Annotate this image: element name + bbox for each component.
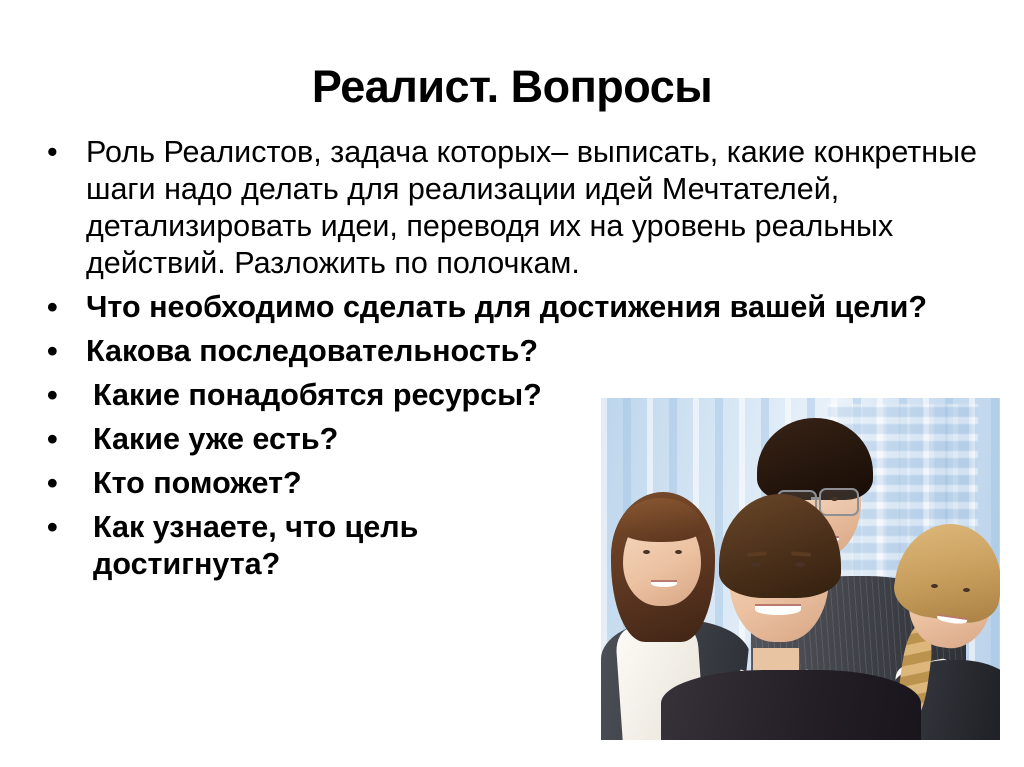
eyeglasses-lens-right — [819, 488, 859, 516]
bullet-marker-icon: • — [47, 134, 58, 171]
eye — [751, 562, 761, 567]
eye — [643, 550, 650, 554]
list-item-text: Как узнаете, что цель достигнута? — [86, 509, 566, 583]
suit-jacket — [661, 670, 921, 740]
list-item-text: Что необходимо сделать для достижения ва… — [86, 290, 927, 324]
list-item: • Какова последовательность? — [34, 333, 959, 370]
page-title: Реалист. Вопросы — [0, 62, 1024, 112]
bullet-marker-icon: • — [47, 509, 58, 546]
bullet-marker-icon: • — [47, 421, 58, 458]
photo-background — [601, 398, 1000, 740]
list-item-text: Какова последовательность? — [86, 334, 538, 368]
eye — [963, 588, 970, 592]
eye — [795, 562, 805, 567]
list-item: • Как узнаете, что цель достигнута? — [34, 509, 566, 583]
list-item: • Роль Реалистов, задача которых– выписа… — [34, 134, 1001, 282]
eye — [675, 550, 682, 554]
eye — [831, 497, 838, 501]
list-item-text: Роль Реалистов, задача которых– выписать… — [86, 135, 977, 280]
list-item-text: Какие уже есть? — [86, 421, 338, 458]
smile — [755, 604, 801, 615]
bullet-marker-icon: • — [47, 465, 58, 502]
list-item: • Что необходимо сделать для достижения … — [34, 289, 959, 326]
eye — [931, 584, 938, 588]
list-item-text: Какие понадобятся ресурсы? — [86, 377, 542, 414]
list-item-text: Кто поможет? — [86, 465, 302, 502]
smile — [651, 580, 677, 587]
bullet-marker-icon: • — [47, 377, 58, 414]
bullet-marker-icon: • — [47, 333, 58, 370]
presentation-slide: Реалист. Вопросы • Роль Реалистов, задач… — [0, 0, 1024, 767]
eyeglasses-bridge — [811, 497, 821, 500]
bullet-marker-icon: • — [47, 289, 58, 326]
business-team-photo — [601, 398, 1000, 740]
